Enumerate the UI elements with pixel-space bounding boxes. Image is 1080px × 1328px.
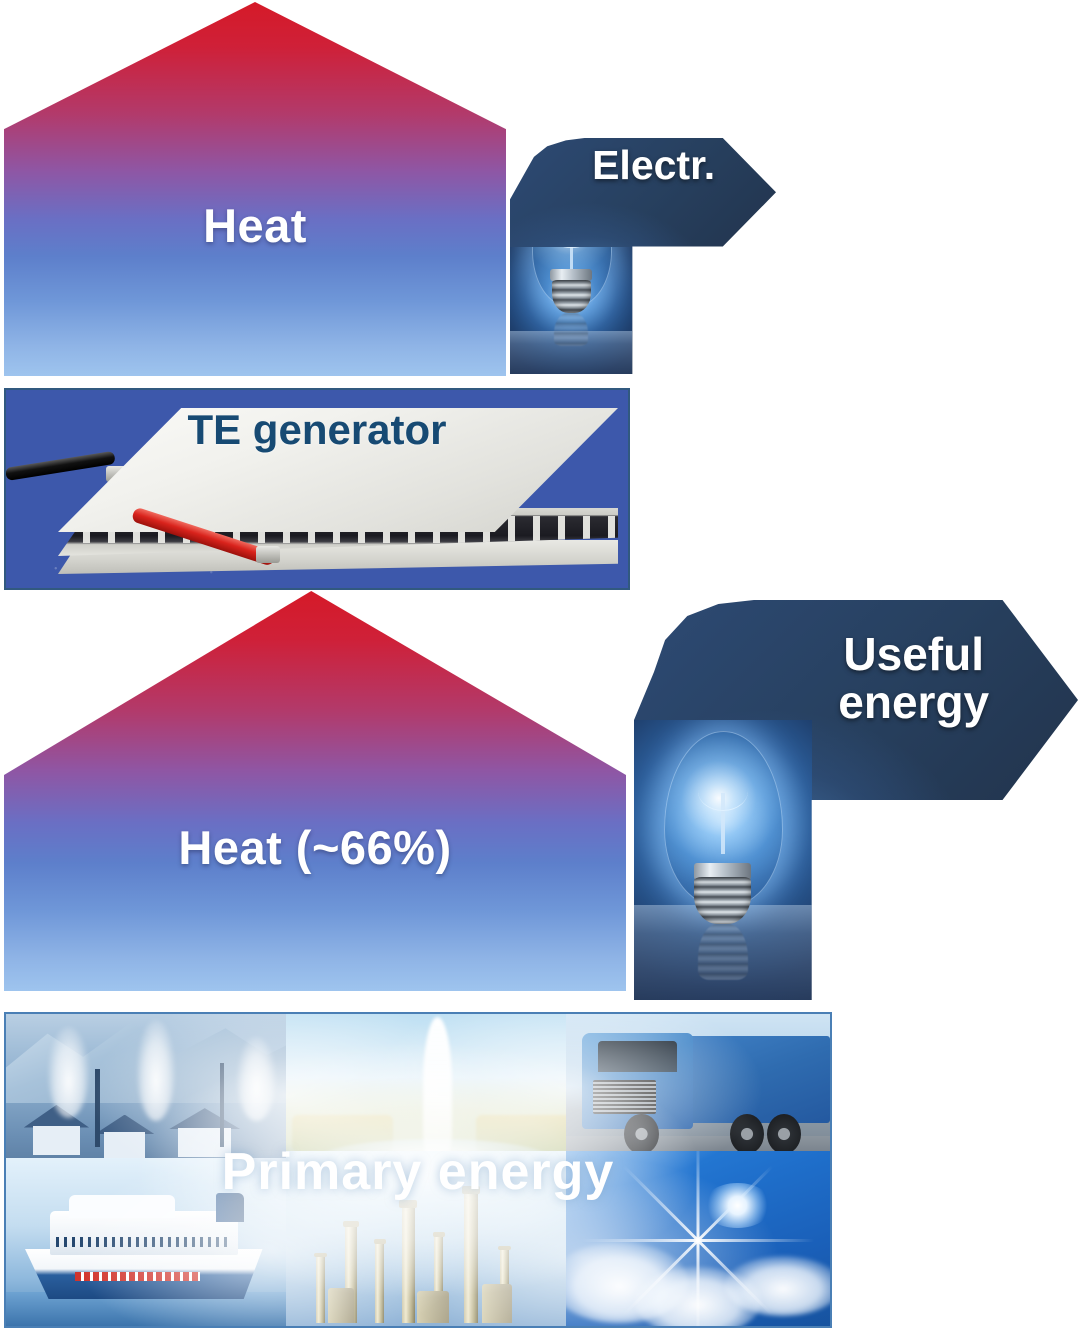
heat-gradient-icon [4,591,626,991]
refinery-stack [375,1239,384,1323]
bulb-reflection [554,313,588,346]
truck-trailer [688,1036,830,1123]
sun-ray [582,1239,698,1242]
truck-windshield [598,1041,677,1072]
primary-energy-label: Primary energy [6,1142,830,1202]
useful-energy-line1: Useful [843,628,984,680]
te-wire-tip-bottom [256,546,280,563]
ship-window-row [56,1237,231,1247]
heat-arrow-bottom: Heat (~66%) [4,591,626,991]
utility-pole [220,1063,225,1147]
geyser-water-jet [423,1017,453,1155]
heat-gradient-icon [4,2,506,376]
te-generator-label: TE generator [6,406,628,454]
light-bulb-icon [510,247,632,374]
useful-energy-arrow: Useful energy [634,600,1078,1000]
refinery-tank [328,1288,355,1323]
refinery-stack [464,1186,478,1322]
refinery-stack [402,1200,415,1322]
refinery-tank [482,1284,512,1322]
house-roof [95,1115,154,1134]
bulb-filament [698,770,748,810]
utility-pole [95,1069,100,1147]
useful-energy-arrow-label: Useful energy [785,630,1043,727]
bulb-reflection [698,924,748,980]
refinery-tank [417,1291,450,1322]
ship-lifeboat-row [75,1272,200,1280]
electricity-arrow: Electr. [510,138,776,374]
chimney-smoke [237,1037,276,1121]
useful-energy-line2: energy [838,676,989,728]
primary-energy-panel: Primary energy [4,1012,832,1328]
heat-arrow-top-label: Heat [203,198,307,253]
refinery-stack [316,1253,325,1323]
te-generator-panel: TE generator [4,388,630,590]
house-roof [169,1108,240,1129]
chimney-smoke [137,1020,176,1121]
light-bulb-icon [634,720,812,1000]
heat-arrow-top: Heat [4,2,506,376]
sun-ray [698,1239,814,1242]
diagram-canvas: Heat Electr. TE generator [0,0,1080,1328]
heat-arrow-bottom-label: Heat (~66%) [178,820,451,875]
electricity-arrow-label: Electr. [579,144,728,187]
bulb-filament-stem [570,247,573,270]
truck-grille [593,1080,656,1114]
chimney-smoke [48,1027,90,1118]
bulb-screw-base [552,280,591,313]
sun-ray [697,1240,700,1326]
